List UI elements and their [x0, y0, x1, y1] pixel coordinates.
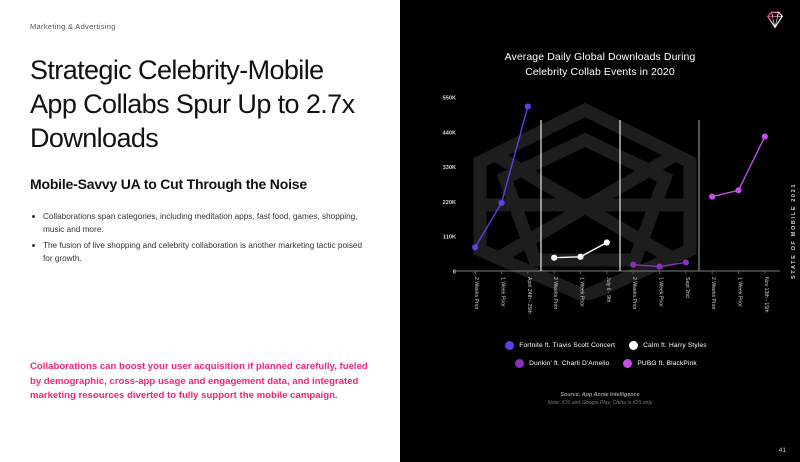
legend-label: Fortnite ft. Travis Scott Concert: [519, 342, 615, 349]
data-point[interactable]: [683, 259, 689, 265]
takeaway-callout: Collaborations can boost your user acqui…: [30, 360, 370, 404]
chart-source: Source: App Annie Intelligence Note: iOS…: [400, 392, 800, 406]
y-axis-tick-label: 440K: [443, 130, 456, 136]
left-content-panel: Marketing & Advertising Strategic Celebr…: [0, 0, 400, 462]
x-axis-tick-label: 1 Week Prior: [658, 277, 664, 307]
y-axis-tick-label: 330K: [443, 165, 456, 171]
data-point[interactable]: [735, 187, 741, 193]
data-point[interactable]: [604, 239, 610, 245]
x-axis-tick-label: 1 Week Prior: [737, 277, 743, 307]
bullet-list: Collaborations span categories, includin…: [30, 210, 370, 266]
x-axis-tick-label: Nov 13th - 15th: [763, 277, 769, 313]
legend-item-fortnite[interactable]: Fortnite ft. Travis Scott Concert: [505, 341, 615, 350]
x-axis-tick-label: 2 Weeks Prior: [473, 277, 479, 310]
x-axis-tick-label: 2 Weeks Prior: [710, 277, 716, 310]
data-point[interactable]: [498, 200, 504, 206]
data-point[interactable]: [472, 244, 478, 250]
list-item: Collaborations span categories, includin…: [30, 210, 370, 237]
legend-item-calm[interactable]: Calm ft. Harry Styles: [629, 341, 707, 350]
y-axis-tick-label: 220K: [443, 200, 456, 206]
x-axis-tick-label: 1 Week Prior: [500, 277, 506, 307]
x-axis-tick-label: 2 Weeks Prior: [552, 277, 558, 310]
data-point[interactable]: [762, 133, 768, 139]
legend-item-pubg[interactable]: PUBG ft. BlackPink: [623, 359, 697, 368]
legend-item-dunkin[interactable]: Dunkin' ft. Charli D'Amelio: [515, 359, 609, 368]
legend-row-1: Fortnite ft. Travis Scott Concert Calm f…: [428, 341, 784, 350]
page-title: Strategic Celebrity-Mobile App Collabs S…: [30, 53, 370, 155]
data-point[interactable]: [551, 255, 557, 261]
series-line: [475, 106, 528, 247]
legend-swatch-icon: [623, 359, 632, 368]
chart-panel: STATE OF MOBILE 2021 41 Average Daily Gl…: [400, 0, 800, 462]
x-axis-tick-label: July 6 - 9th: [605, 277, 611, 302]
legend-swatch-icon: [505, 341, 514, 350]
source-subnote: Note: iOS and Google Play, China is iOS …: [400, 400, 800, 406]
x-axis-tick-label: Sept 2nd: [684, 277, 690, 298]
data-point[interactable]: [577, 254, 583, 260]
subheading: Mobile-Savvy UA to Cut Through the Noise: [30, 175, 370, 193]
legend-row-2: Dunkin' ft. Charli D'Amelio PUBG ft. Bla…: [428, 359, 784, 368]
chart-legend: Fortnite ft. Travis Scott Concert Calm f…: [428, 341, 784, 377]
source-note: Source: App Annie Intelligence: [400, 392, 800, 398]
x-axis-tick-label: April 24th - 25th: [526, 277, 532, 314]
category-kicker: Marketing & Advertising: [30, 22, 370, 31]
legend-label: Dunkin' ft. Charli D'Amelio: [529, 360, 609, 367]
legend-label: PUBG ft. BlackPink: [637, 360, 697, 367]
x-axis-tick-label: 2 Weeks Prior: [631, 277, 637, 310]
data-point[interactable]: [525, 103, 531, 109]
legend-label: Calm ft. Harry Styles: [643, 342, 707, 349]
x-axis-tick-label: 1 Week Prior: [579, 277, 585, 307]
data-point[interactable]: [630, 262, 636, 268]
y-axis-tick-label: 110K: [443, 235, 456, 241]
data-point[interactable]: [709, 194, 715, 200]
y-axis-tick-label: 550K: [443, 96, 456, 102]
slide: Marketing & Advertising Strategic Celebr…: [0, 0, 800, 462]
y-axis-tick-label: 0: [453, 270, 456, 276]
data-point[interactable]: [656, 263, 662, 269]
list-item: The fusion of live shopping and celebrit…: [30, 239, 370, 266]
legend-swatch-icon: [629, 341, 638, 350]
legend-swatch-icon: [515, 359, 524, 368]
